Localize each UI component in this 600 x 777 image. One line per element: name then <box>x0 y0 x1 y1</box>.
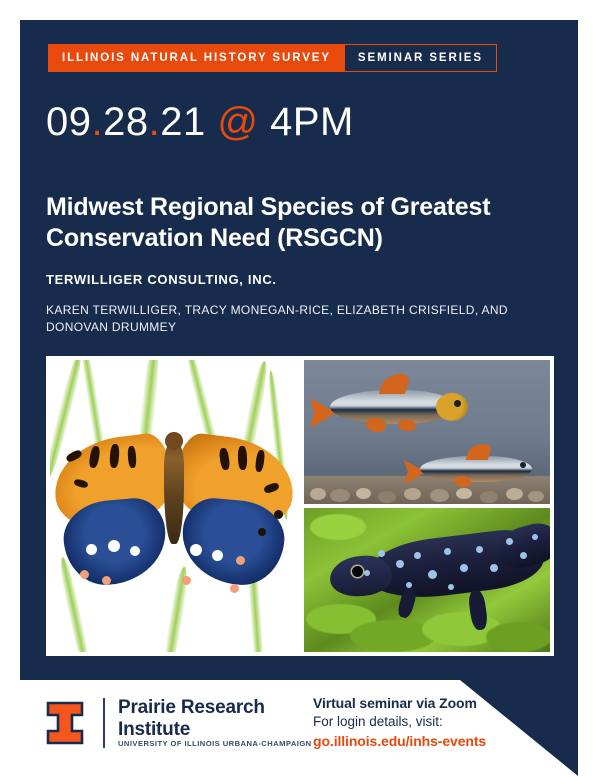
event-time: 4PM <box>270 100 354 144</box>
hindwing-spot <box>190 544 202 556</box>
institute-name-line1: Prairie Research <box>118 697 265 718</box>
fish-eye <box>454 400 461 407</box>
hindwing-spot <box>80 570 89 579</box>
hindwing-spot <box>230 584 239 593</box>
date-separator-1: . <box>92 100 104 144</box>
at-symbol: @ <box>217 100 258 144</box>
header-banner: ILLINOIS NATURAL HISTORY SURVEY SEMINAR … <box>48 44 497 72</box>
wing-marking <box>238 446 248 470</box>
speaker-names: KAREN TERWILLIGER, TRACY MONEGAN-RICE, E… <box>46 302 516 337</box>
pebble <box>456 488 472 499</box>
fish-head <box>436 393 468 421</box>
banner-organization-label: ILLINOIS NATURAL HISTORY SURVEY <box>48 44 344 72</box>
wing-marking <box>258 528 266 536</box>
hindwing-spot <box>108 540 120 552</box>
zoom-instructions: For login details, visit: <box>313 714 443 729</box>
date-day: 28 <box>103 100 149 144</box>
zoom-url-link[interactable]: go.illinois.edu/inhs-events <box>313 733 486 749</box>
salamander-fleck <box>506 538 513 545</box>
banner-series-label: SEMINAR SERIES <box>344 44 497 72</box>
hindwing-spot <box>212 550 223 561</box>
hindwing-spot <box>210 582 219 591</box>
salamander-fleck <box>406 582 412 588</box>
illinois-block-i-logo <box>45 700 85 746</box>
salamander-fleck <box>460 564 468 572</box>
butterfly-body <box>164 440 184 544</box>
hindwing-spot <box>86 544 97 555</box>
fish-eye <box>520 462 526 468</box>
salamander-eye <box>352 566 363 577</box>
zoom-heading: Virtual seminar via Zoom <box>313 695 477 711</box>
date-separator-2: . <box>149 100 161 144</box>
institute-tagline: UNIVERSITY OF ILLINOIS URBANA-CHAMPAIGN <box>118 739 312 748</box>
salamander-fleck <box>444 548 451 555</box>
salamander-fleck <box>378 550 385 557</box>
poster-footer <box>0 680 600 777</box>
hindwing-spot <box>126 582 135 591</box>
pebble <box>356 488 371 499</box>
pebble <box>310 488 326 500</box>
pebble <box>528 491 544 502</box>
salamander-fleck <box>476 546 483 553</box>
wing-marking <box>274 510 283 519</box>
date-year: 21 <box>160 100 206 144</box>
event-datetime: 09.28.21 @ 4PM <box>46 102 354 142</box>
fish-photo <box>304 360 550 504</box>
hindwing-spot <box>102 576 111 585</box>
institute-name: Prairie Research Institute <box>118 697 265 740</box>
salamander-fleck <box>532 534 538 540</box>
butterfly-photo <box>50 360 298 652</box>
pebble <box>330 489 350 502</box>
date-month: 09 <box>46 100 92 144</box>
salamander-fleck <box>364 570 370 576</box>
hindwing-spot <box>236 556 245 565</box>
salamander-photo <box>304 508 550 652</box>
pebble <box>480 491 498 503</box>
moss-clump <box>310 514 366 540</box>
salamander-fleck <box>414 552 421 559</box>
seminar-poster: ILLINOIS NATURAL HISTORY SURVEY SEMINAR … <box>0 0 600 777</box>
pebble <box>506 488 523 500</box>
pebble <box>430 489 449 502</box>
hindwing-spot <box>158 566 168 576</box>
institute-name-line2: Institute <box>118 719 190 740</box>
salamander-fleck <box>428 570 437 579</box>
salamander-fleck <box>448 584 454 590</box>
navy-corner-wedge <box>460 680 578 776</box>
speaker-affiliation: TERWILLIGER CONSULTING, INC. <box>46 272 277 287</box>
logo-divider <box>103 698 105 748</box>
salamander-fleck <box>490 564 498 572</box>
pebble <box>378 491 396 503</box>
photo-collage <box>46 356 554 656</box>
salamander-fleck <box>396 560 404 568</box>
moss-clump <box>486 622 550 652</box>
seminar-title: Midwest Regional Species of Greatest Con… <box>46 192 566 254</box>
salamander-fleck <box>520 552 527 559</box>
pebble <box>404 488 421 500</box>
butterfly-head <box>165 432 183 450</box>
hindwing-spot <box>130 546 140 556</box>
hindwing-spot <box>182 576 191 585</box>
